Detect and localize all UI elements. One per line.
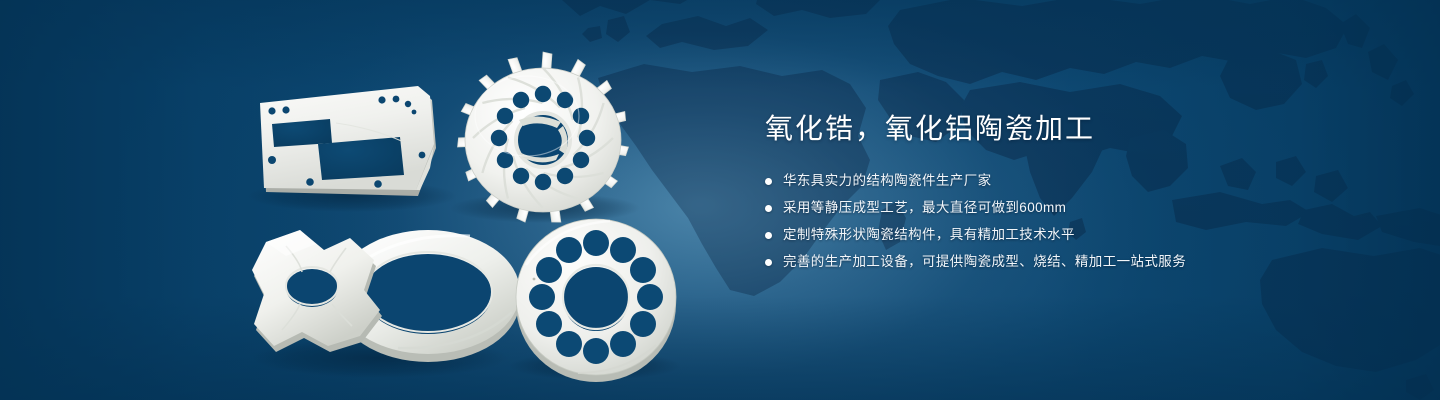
ceramic-perforated-disc-part — [516, 219, 676, 382]
list-item: 华东具实力的结构陶瓷件生产厂家 — [765, 170, 1365, 192]
ceramic-plate-part — [260, 86, 436, 196]
product-photo-group — [0, 0, 740, 400]
list-item: 定制特殊形状陶瓷结构件，具有精加工技术水平 — [765, 224, 1365, 246]
feature-text: 采用等静压成型工艺，最大直径可做到600mm — [783, 197, 1066, 219]
bullet-marker-icon — [765, 232, 772, 239]
feature-bullet-list: 华东具实力的结构陶瓷件生产厂家 采用等静压成型工艺，最大直径可做到600mm 定… — [765, 170, 1365, 273]
feature-text: 定制特殊形状陶瓷结构件，具有精加工技术水平 — [783, 224, 1075, 246]
feature-text: 完善的生产加工设备，可提供陶瓷成型、烧结、精加工一站式服务 — [783, 251, 1186, 273]
feature-text: 华东具实力的结构陶瓷件生产厂家 — [783, 170, 992, 192]
list-item: 完善的生产加工设备，可提供陶瓷成型、烧结、精加工一站式服务 — [765, 251, 1365, 273]
banner-copy: 氧化锆，氧化铝陶瓷加工 华东具实力的结构陶瓷件生产厂家 采用等静压成型工艺，最大… — [765, 112, 1365, 278]
hero-banner: 氧化锆，氧化铝陶瓷加工 华东具实力的结构陶瓷件生产厂家 采用等静压成型工艺，最大… — [0, 0, 1440, 400]
bullet-marker-icon — [765, 205, 772, 212]
ceramic-cross-part — [252, 230, 382, 352]
bullet-marker-icon — [765, 259, 772, 266]
bullet-marker-icon — [765, 178, 772, 185]
list-item: 采用等静压成型工艺，最大直径可做到600mm — [765, 197, 1365, 219]
banner-headline: 氧化锆，氧化铝陶瓷加工 — [765, 112, 1365, 146]
